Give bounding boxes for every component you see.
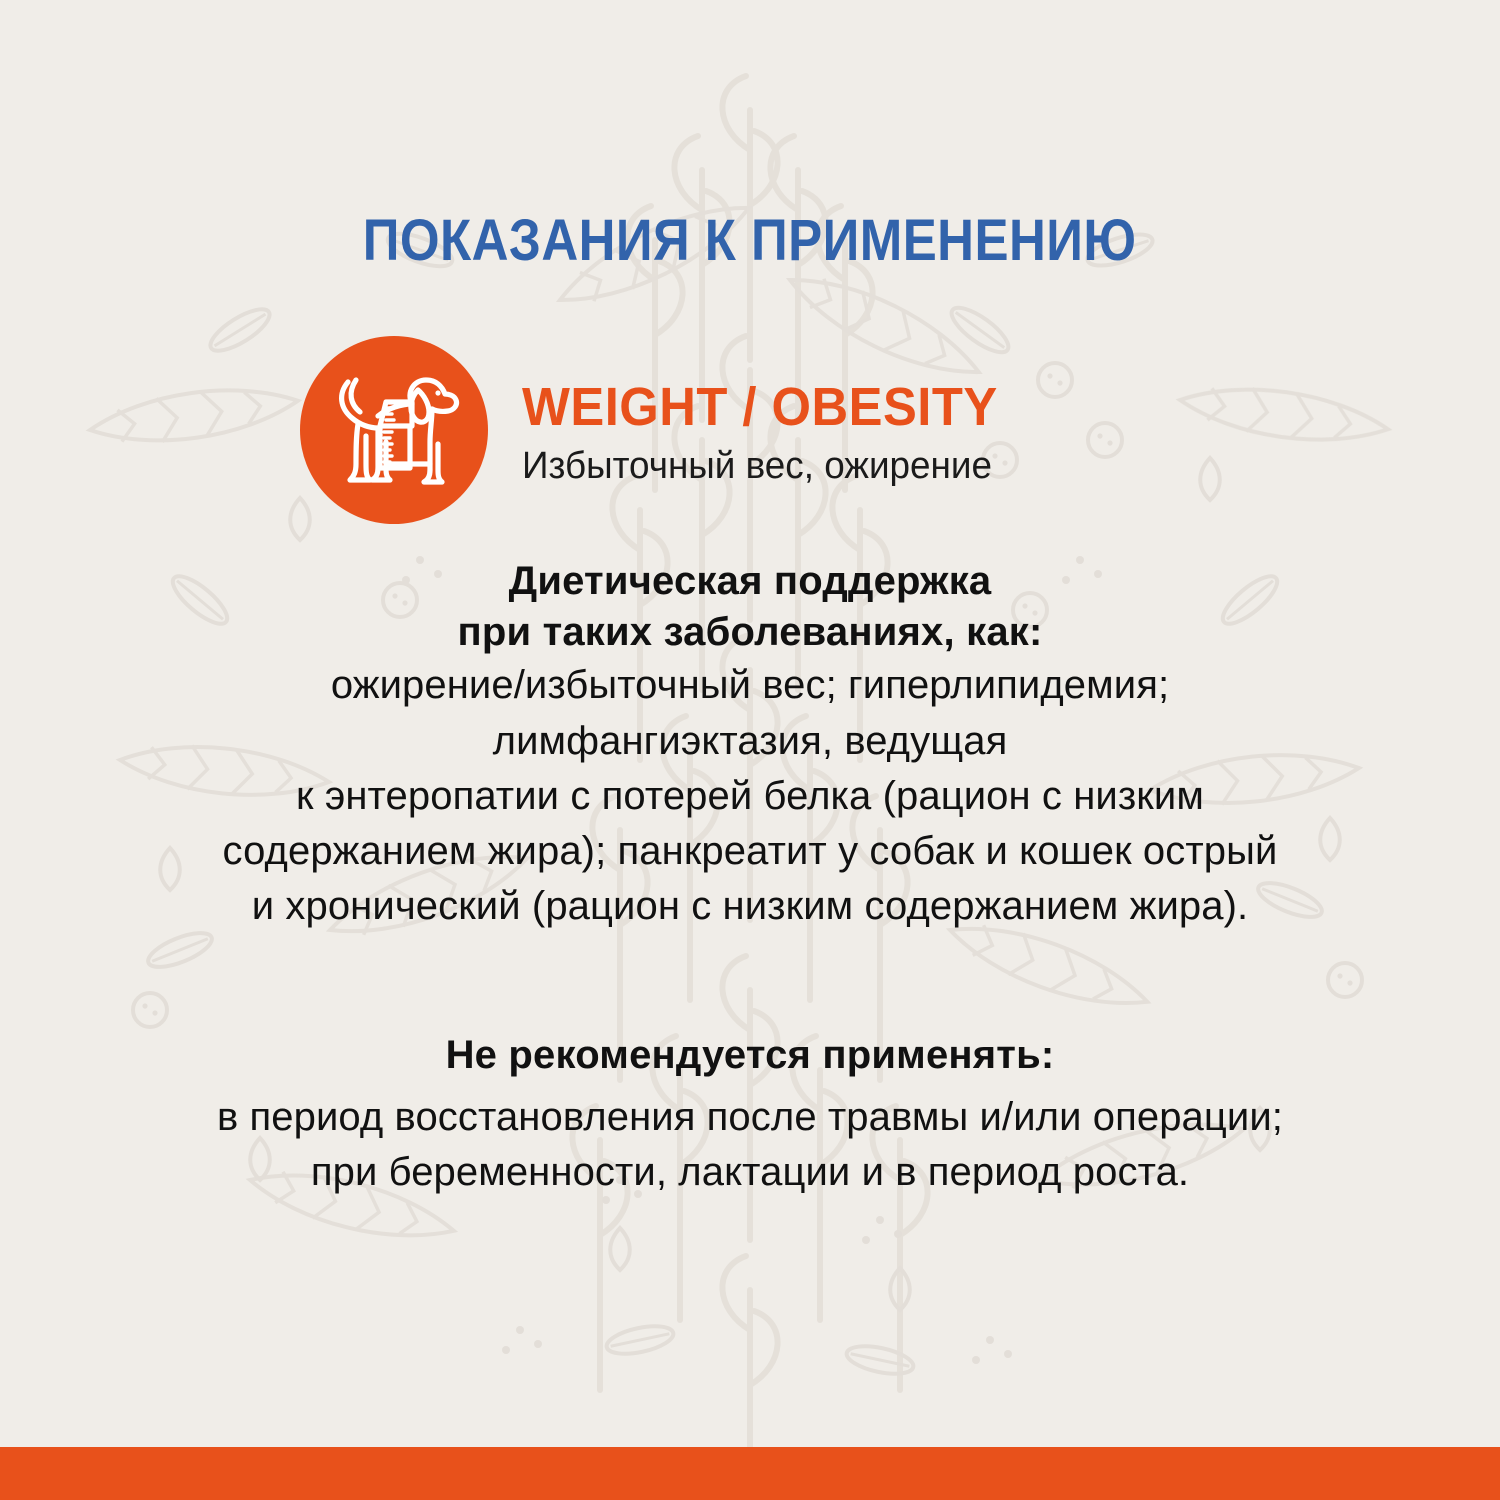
indications-lead-line: Диетическая поддержка [90, 556, 1410, 607]
page-title-container: ПОКАЗАНИЯ К ПРИМЕНЕНИЮ [0, 168, 1500, 313]
poster-canvas: ПОКАЗАНИЯ К ПРИМЕНЕНИЮ [0, 0, 1500, 1500]
contraindications-body: в период восстановления после травмы и/и… [90, 1090, 1410, 1200]
body-copy: Диетическая поддержка при таких заболева… [90, 556, 1410, 1200]
contraindications-body-line: при беременности, лактации и в период ро… [90, 1145, 1410, 1200]
contraindications-lead-line: Не рекомендуется применять: [90, 1030, 1410, 1081]
page-title: ПОКАЗАНИЯ К ПРИМЕНЕНИЮ [363, 207, 1137, 274]
indications-block: Диетическая поддержка при таких заболева… [90, 556, 1410, 934]
indications-body-line: лимфангиэктазия, ведущая [90, 714, 1410, 769]
indications-lead-line: при таких заболеваниях, как: [90, 607, 1410, 658]
contraindications-body-line: в период восстановления после травмы и/и… [90, 1090, 1410, 1145]
bottom-accent-bar [0, 1447, 1500, 1500]
indication-text-group: WEIGHT / OBESITY Избыточный вес, ожирени… [522, 380, 1028, 488]
indication-row: WEIGHT / OBESITY Избыточный вес, ожирени… [300, 336, 1200, 526]
contraindications-block: Не рекомендуется применять: в период вос… [90, 1030, 1410, 1200]
indication-subtitle: Избыточный вес, ожирение [522, 446, 1013, 488]
indications-body-line: к энтеропатии с потерей белка (рацион с … [90, 769, 1410, 824]
indications-lead: Диетическая поддержка при таких заболева… [90, 556, 1410, 658]
dog-measuring-tape-icon [326, 364, 462, 496]
indications-body-line: содержанием жира); панкреатит у собак и … [90, 824, 1410, 879]
contraindications-lead: Не рекомендуется применять: [90, 1030, 1410, 1081]
indications-body-line: ожирение/избыточный вес; гиперлипидемия; [90, 658, 1410, 713]
indication-badge [300, 336, 488, 524]
indications-body: ожирение/избыточный вес; гиперлипидемия;… [90, 658, 1410, 934]
indication-title: WEIGHT / OBESITY [522, 380, 998, 434]
indications-body-line: и хронический (рацион с низким содержани… [90, 879, 1410, 934]
